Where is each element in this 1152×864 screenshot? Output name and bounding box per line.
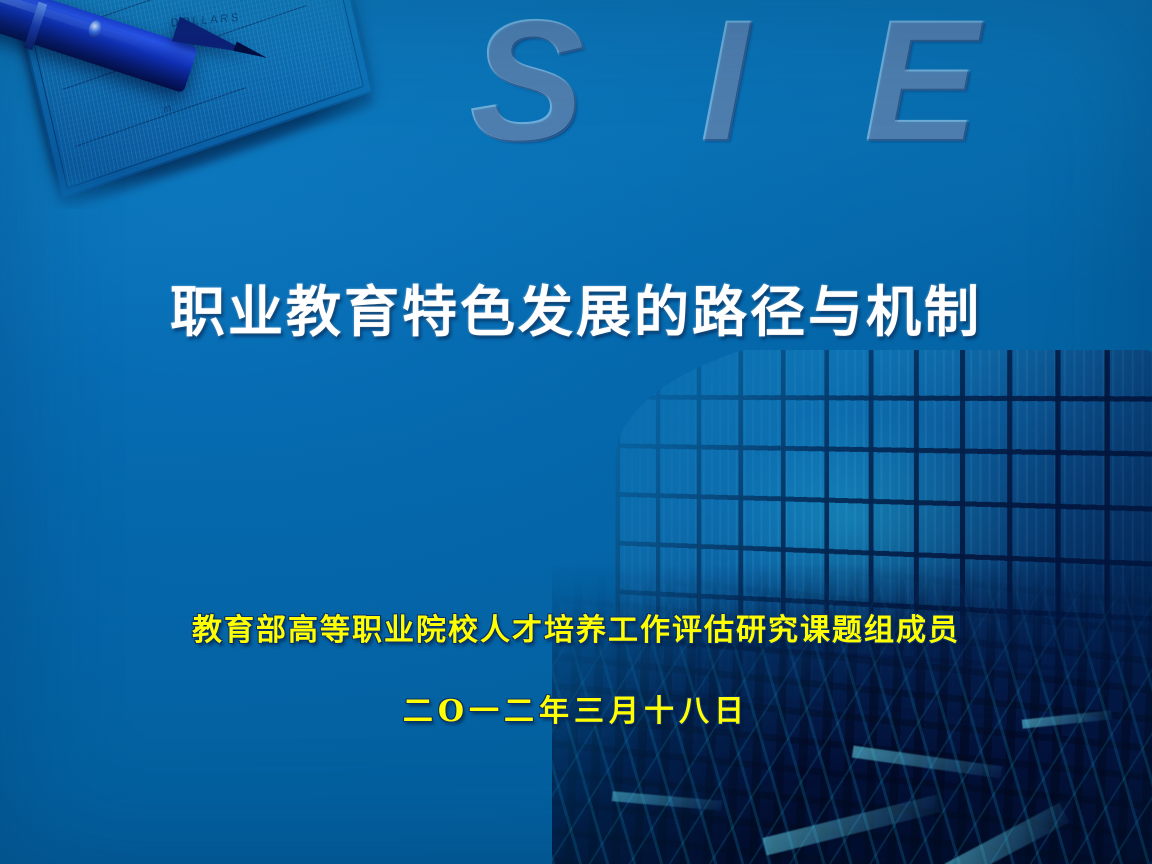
- slide-title: 职业教育特色发展的路径与机制: [0, 282, 1152, 343]
- presentation-slide: 4970 DOLLARS $ m S I E: [0, 0, 1152, 864]
- slide-subtitle: 教育部高等职业院校人才培养工作评估研究课题组成员: [0, 605, 1152, 649]
- slide-edge-vignette: [0, 0, 1152, 864]
- slide-date: 二O一二年三月十八日: [0, 686, 1152, 730]
